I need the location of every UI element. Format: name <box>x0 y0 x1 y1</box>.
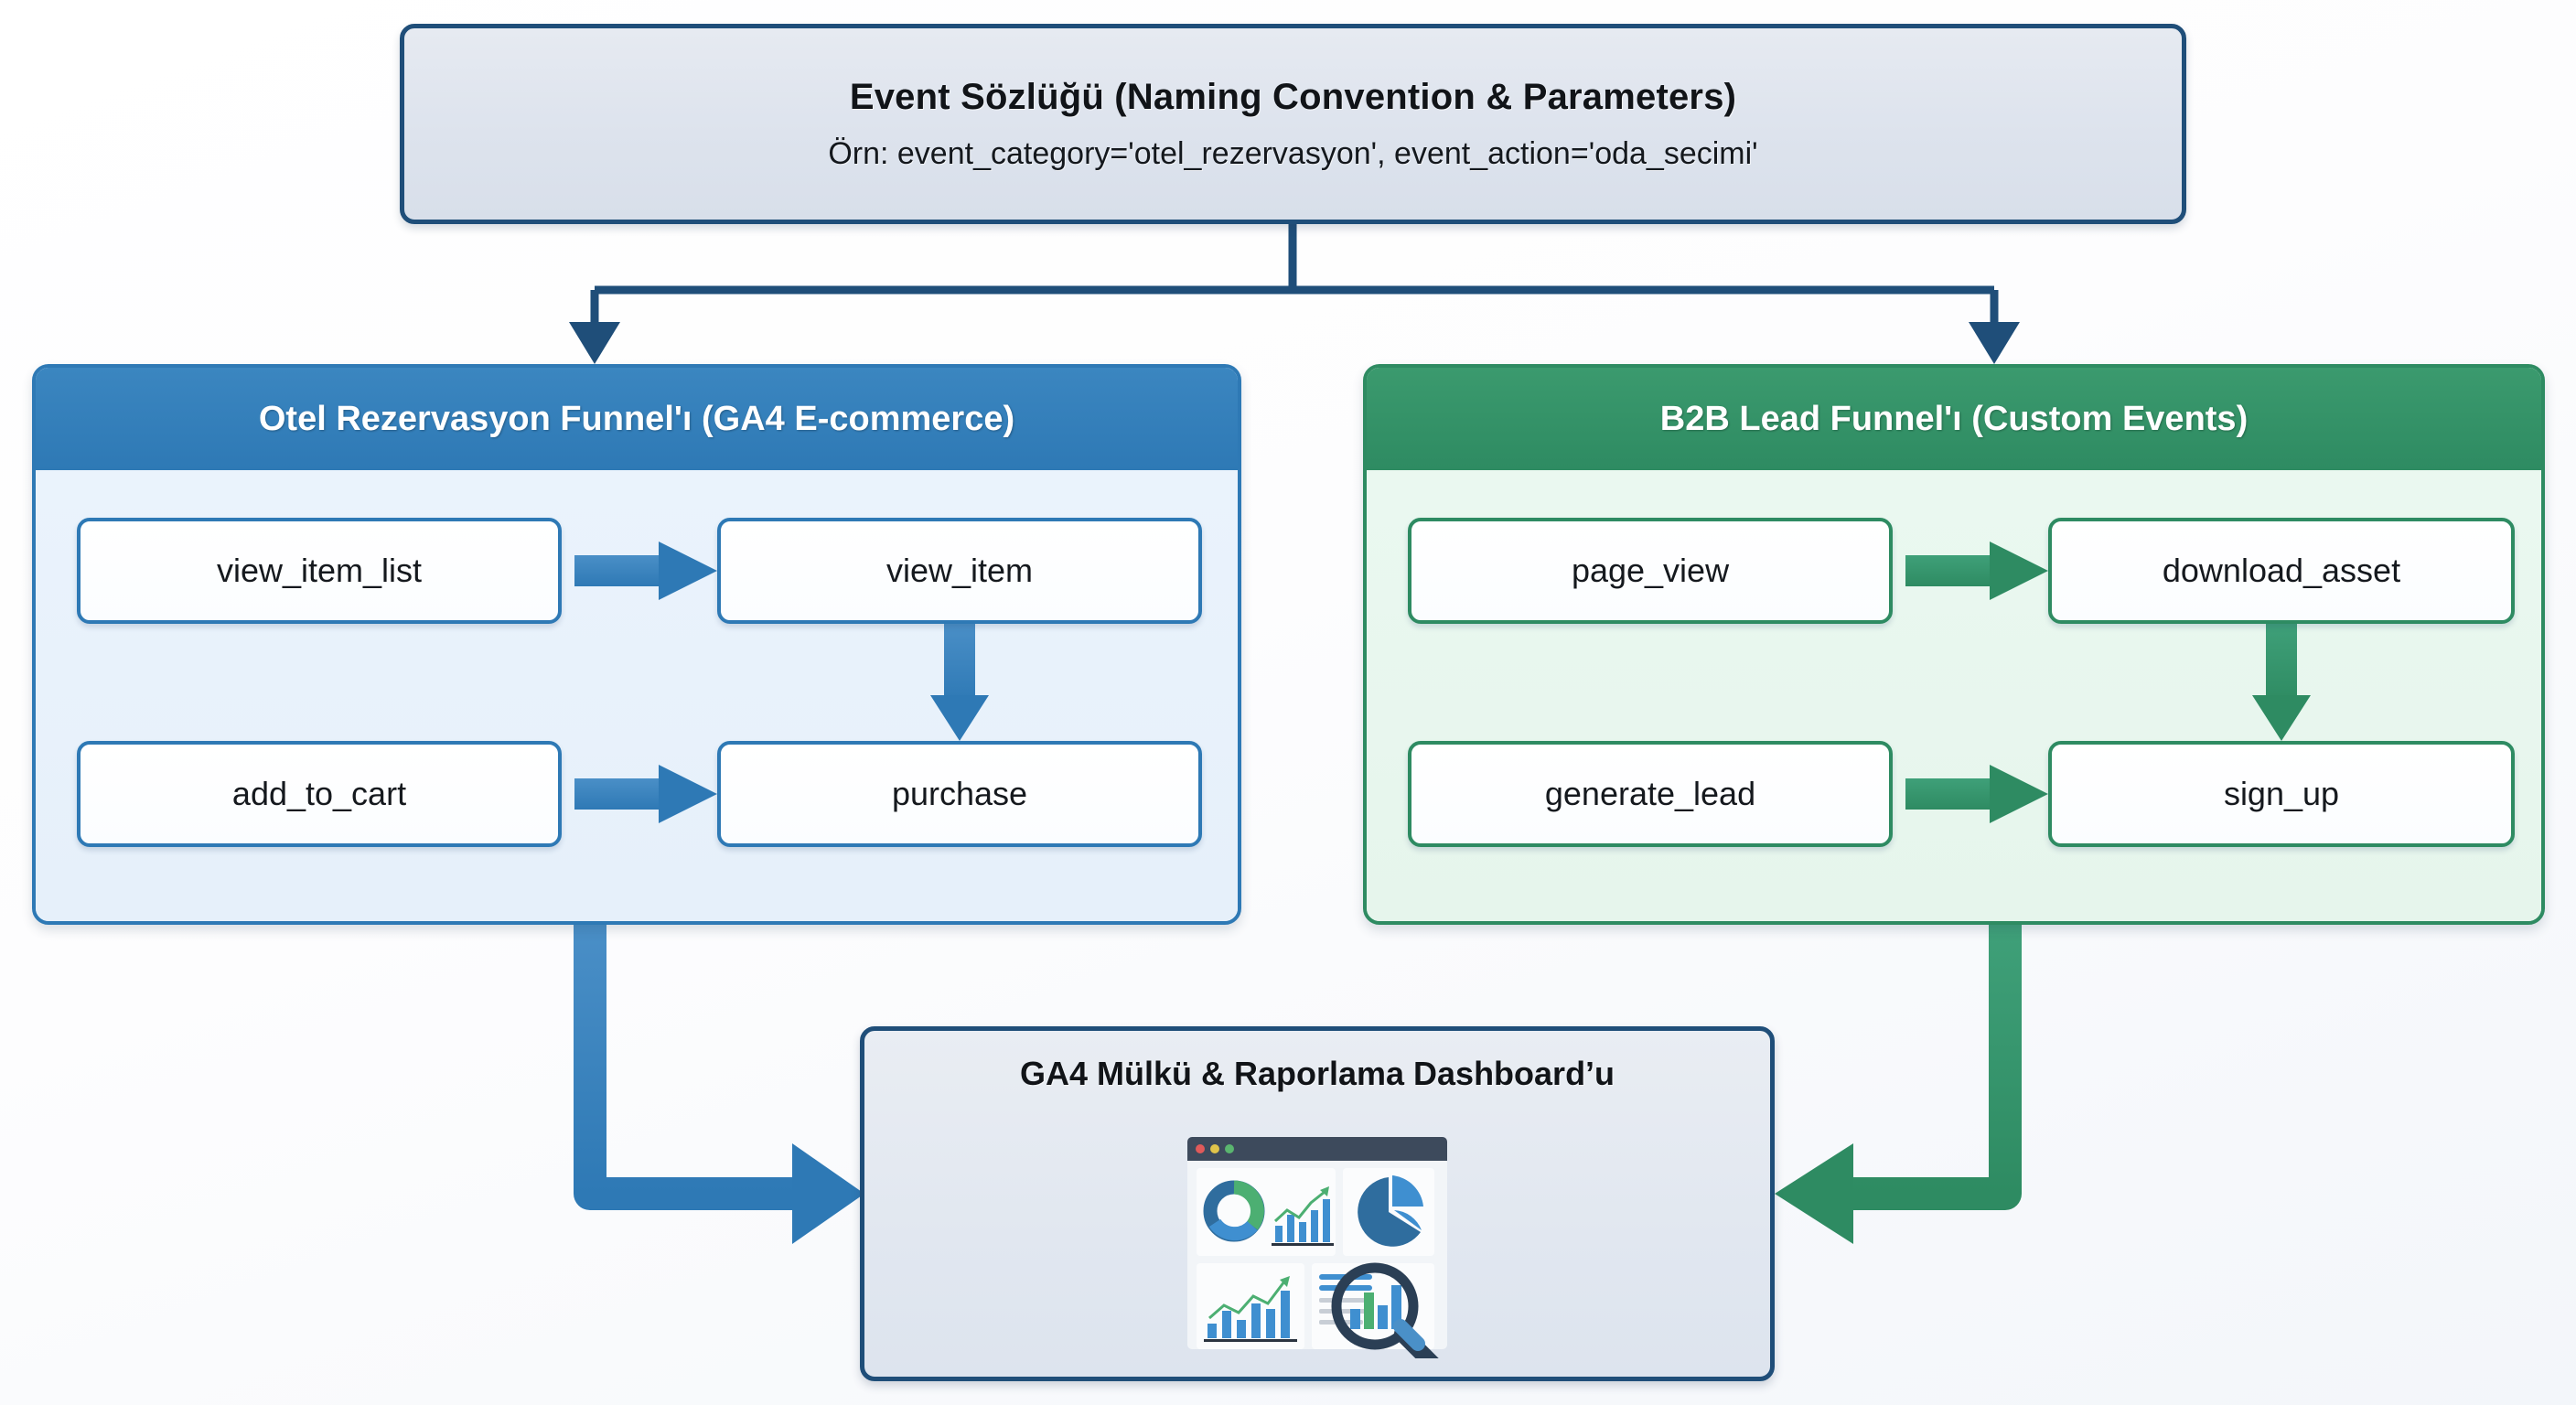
b2b-funnel-panel: B2B Lead Funnel'ı (Custom Events) page_v… <box>1363 364 2545 925</box>
edge-add-to-cart-to-purchase <box>574 765 717 823</box>
dashboard-box: GA4 Mülkü & Raporlama Dashboard’u <box>860 1026 1775 1381</box>
analytics-dashboard-illustration <box>1143 1130 1491 1358</box>
event-dictionary-box: Event Sözlüğü (Naming Convention & Param… <box>400 24 2186 224</box>
edge-download-asset-to-sign-up <box>2252 624 2311 741</box>
hotel-funnel-panel: Otel Rezervasyon Funnel'ı (GA4 E-commerc… <box>32 364 1241 925</box>
event-dictionary-title: Event Sözlüğü (Naming Convention & Param… <box>850 77 1736 118</box>
event-node-download-asset[interactable]: download_asset <box>2048 518 2515 624</box>
event-dictionary-example: Örn: event_category='otel_rezervasyon', … <box>828 136 1757 172</box>
event-node-generate-lead[interactable]: generate_lead <box>1408 741 1893 847</box>
connector-dictionary-split <box>569 224 2020 364</box>
illustration-pie-panel <box>1343 1168 1434 1256</box>
event-node-add-to-cart[interactable]: add_to_cart <box>77 741 562 847</box>
event-node-sign-up[interactable]: sign_up <box>2048 741 2515 847</box>
b2b-funnel-body: page_view download_asset generate_lead s… <box>1367 470 2541 921</box>
edge-page-view-to-download-asset <box>1905 542 2048 600</box>
edge-view-item-list-to-view-item <box>574 542 717 600</box>
illustration-donut-bar-panel <box>1197 1168 1336 1256</box>
dashboard-title: GA4 Mülkü & Raporlama Dashboard’u <box>864 1055 1770 1093</box>
connector-b2b-to-dashboard <box>1775 925 2005 1244</box>
b2b-funnel-header: B2B Lead Funnel'ı (Custom Events) <box>1367 368 2541 470</box>
window-maximize-dot <box>1225 1144 1234 1153</box>
edge-generate-lead-to-sign-up <box>1905 765 2048 823</box>
window-close-dot <box>1196 1144 1205 1153</box>
event-node-page-view[interactable]: page_view <box>1408 518 1893 624</box>
event-node-view-item-list[interactable]: view_item_list <box>77 518 562 624</box>
event-node-purchase[interactable]: purchase <box>717 741 1202 847</box>
edge-view-item-to-purchase <box>930 624 989 741</box>
connector-hotel-to-dashboard <box>590 925 864 1244</box>
hotel-funnel-header: Otel Rezervasyon Funnel'ı (GA4 E-commerc… <box>36 368 1238 470</box>
window-minimize-dot <box>1210 1144 1219 1153</box>
hotel-funnel-body: view_item_list view_item add_to_cart pur… <box>36 470 1238 921</box>
event-node-view-item[interactable]: view_item <box>717 518 1202 624</box>
illustration-bar-trend-panel <box>1197 1263 1304 1349</box>
diagram-canvas: Event Sözlüğü (Naming Convention & Param… <box>0 0 2576 1405</box>
